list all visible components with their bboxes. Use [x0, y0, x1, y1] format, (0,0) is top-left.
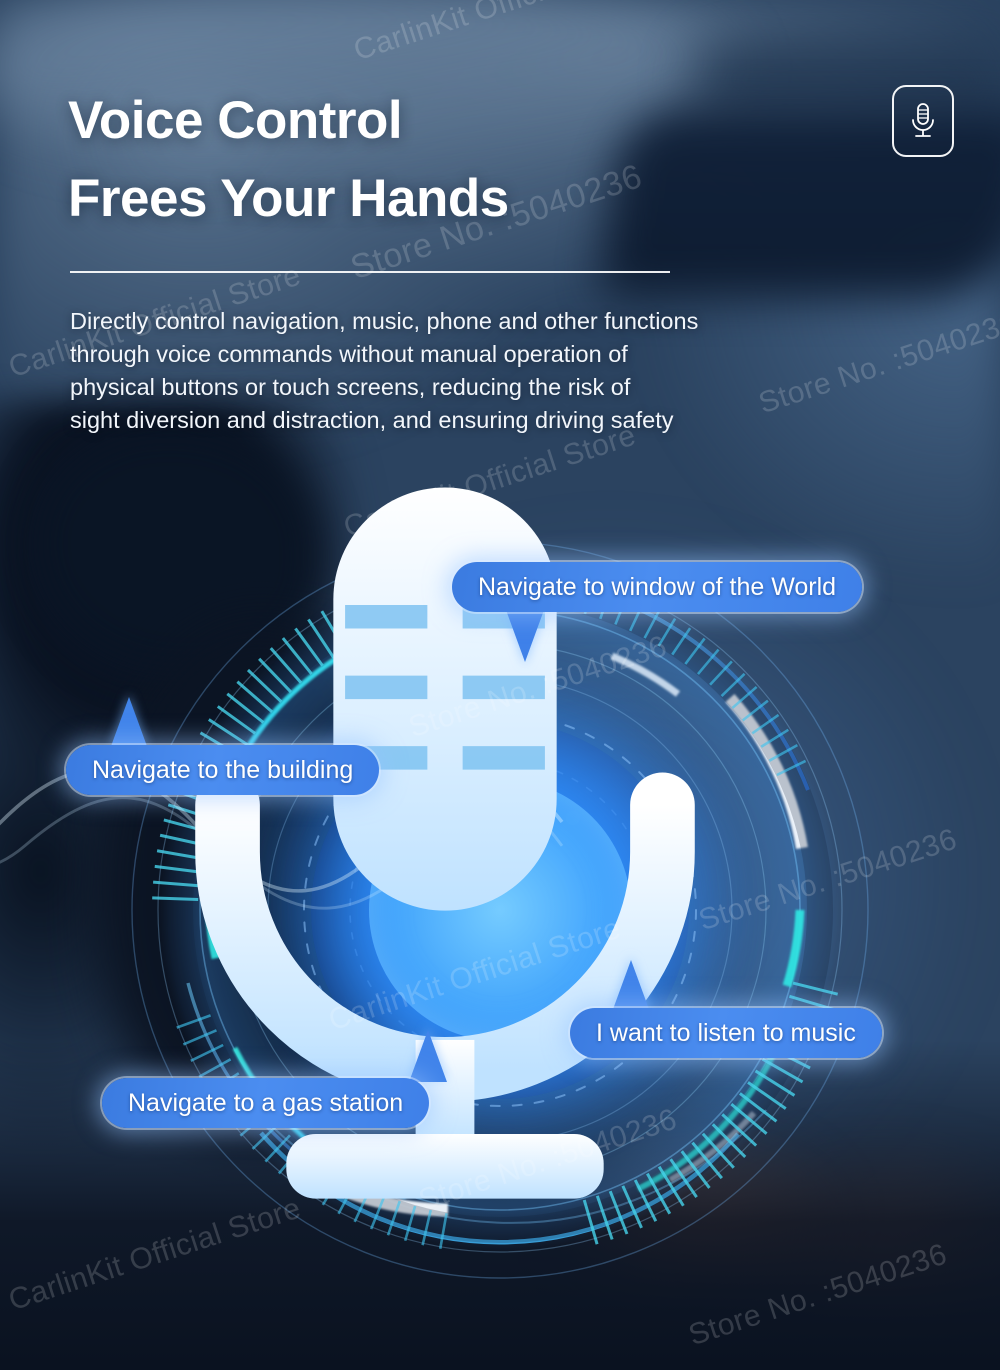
bubble-navigate-window-world[interactable]: Navigate to window of the World [452, 562, 862, 612]
bubble-navigate-gas-station[interactable]: Navigate to a gas station [102, 1078, 429, 1128]
page-title: Voice Control Frees Your Hands [68, 82, 509, 238]
bubble-label: Navigate to the building [92, 756, 353, 785]
bubble-label: I want to listen to music [596, 1019, 856, 1048]
microphone-badge [892, 85, 954, 157]
voice-hud-graphic [118, 528, 882, 1292]
bubble-label: Navigate to window of the World [478, 573, 836, 602]
bubble-label: Navigate to a gas station [128, 1089, 403, 1118]
voice-control-promo-page: Voice Control Frees Your Hands Directly … [0, 0, 1000, 1370]
bubble-listen-music[interactable]: I want to listen to music [570, 1008, 882, 1058]
bubble-navigate-building[interactable]: Navigate to the building [66, 745, 379, 795]
microphone-icon [908, 101, 938, 141]
description-text: Directly control navigation, music, phon… [70, 305, 900, 437]
title-divider [70, 271, 670, 273]
